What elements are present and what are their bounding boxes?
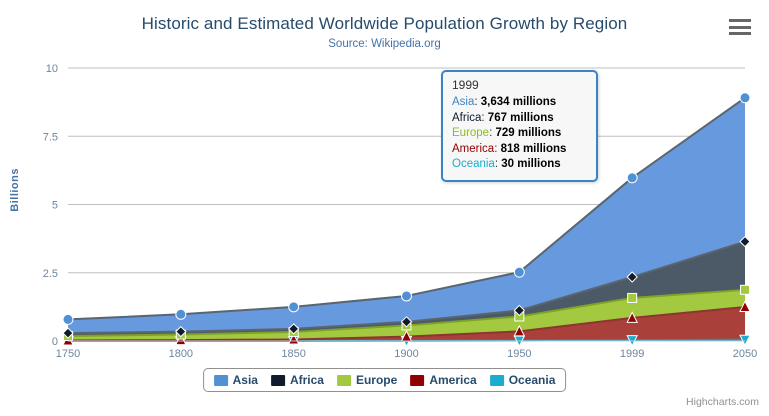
tooltip-series-value: 818 millions — [501, 143, 567, 155]
tooltip-series-value: 3,634 millions — [481, 96, 556, 108]
legend-label: Europe — [356, 373, 397, 387]
x-tick-label: 1950 — [507, 348, 531, 360]
marker-asia-2050[interactable] — [740, 93, 750, 103]
marker-asia-1750[interactable] — [63, 314, 73, 324]
tooltip-series-name: America — [452, 143, 494, 155]
y-tick-label: 5 — [52, 200, 58, 212]
legend-items: AsiaAfricaEuropeAmericaOceania — [214, 373, 556, 387]
legend-item-oceania[interactable]: Oceania — [490, 373, 556, 387]
tooltip-series-name: Europe — [452, 127, 489, 139]
tooltip-series-value: 30 millions — [501, 158, 560, 170]
tooltip-row: Europe: 729 millions — [452, 126, 587, 142]
tooltip-row: Oceania: 30 millions — [452, 157, 587, 173]
legend-item-america[interactable]: America — [410, 373, 476, 387]
series-areas — [68, 98, 745, 341]
legend-label: America — [429, 373, 476, 387]
legend-item-africa[interactable]: Africa — [271, 373, 324, 387]
x-tick-label: 1900 — [394, 348, 418, 360]
x-axis-tick-labels: 1750180018501900195019992050 — [56, 348, 757, 360]
chart-tooltip: 1999 Asia: 3,634 millionsAfrica: 767 mil… — [441, 70, 598, 182]
marker-asia-1850[interactable] — [289, 302, 299, 312]
x-tick-label: 1750 — [56, 348, 80, 360]
marker-asia-1950[interactable] — [514, 267, 524, 277]
legend-item-europe[interactable]: Europe — [337, 373, 397, 387]
legend-label: Asia — [233, 373, 258, 387]
x-tick-label: 1850 — [281, 348, 305, 360]
tooltip-series-value: 729 millions — [495, 127, 561, 139]
tooltip-rows: Asia: 3,634 millionsAfrica: 767 millions… — [452, 95, 587, 173]
y-tick-label: 0 — [52, 336, 58, 348]
marker-asia-1999[interactable] — [627, 173, 637, 183]
legend-label: Africa — [290, 373, 324, 387]
y-tick-label: 10 — [46, 63, 58, 75]
legend-label: Oceania — [509, 373, 556, 387]
highcharts-credits[interactable]: Highcharts.com — [686, 396, 759, 408]
x-tick-label: 1800 — [169, 348, 193, 360]
marker-europe-2050[interactable] — [741, 285, 750, 294]
tooltip-row: America: 818 millions — [452, 142, 587, 158]
y-tick-label: 2.5 — [43, 268, 58, 280]
tooltip-row: Africa: 767 millions — [452, 111, 587, 127]
legend-swatch-america — [410, 375, 424, 386]
marker-asia-1900[interactable] — [402, 291, 412, 301]
tooltip-series-value: 767 millions — [488, 112, 554, 124]
x-tick-label: 1999 — [620, 348, 644, 360]
legend-swatch-europe — [337, 375, 351, 386]
legend-swatch-asia — [214, 375, 228, 386]
legend-swatch-oceania — [490, 375, 504, 386]
tooltip-header: 1999 — [452, 78, 587, 92]
tooltip-series-name: Africa — [452, 112, 481, 124]
tooltip-series-name: Asia — [452, 96, 474, 108]
tooltip-row: Asia: 3,634 millions — [452, 95, 587, 111]
y-tick-label: 7.5 — [43, 131, 58, 143]
tooltip-series-name: Oceania — [452, 158, 495, 170]
marker-asia-1800[interactable] — [176, 309, 186, 319]
marker-europe-1999[interactable] — [628, 293, 637, 302]
y-axis-tick-labels: 02.557.510 — [43, 63, 58, 348]
x-tick-label: 2050 — [733, 348, 757, 360]
legend-swatch-africa — [271, 375, 285, 386]
chart-legend: AsiaAfricaEuropeAmericaOceania — [203, 368, 567, 392]
plot-area: 02.557.510 1750180018501900195019992050 — [0, 0, 769, 416]
highcharts-container: Historic and Estimated Worldwide Populat… — [0, 0, 769, 416]
legend-item-asia[interactable]: Asia — [214, 373, 258, 387]
